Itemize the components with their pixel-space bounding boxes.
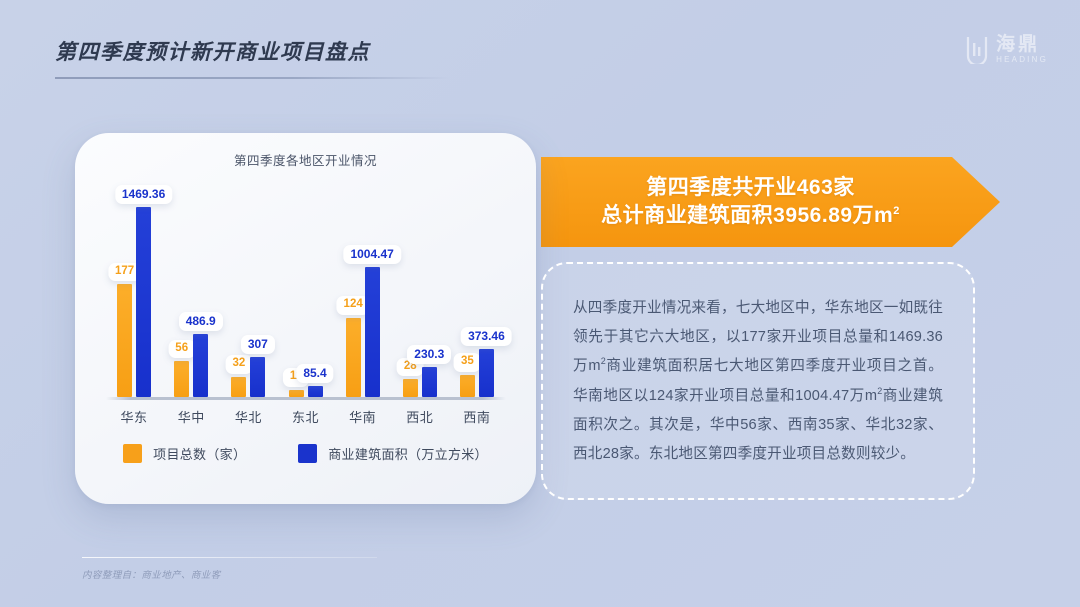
- analysis-note-text: 从四季度开业情况来看，七大地区中，华东地区一如既往领先于其它六大地区，以177家…: [573, 294, 943, 469]
- bar-value-label: 373.46: [461, 327, 512, 346]
- bar-area[interactable]: 230.3: [422, 367, 437, 397]
- category-label-7: 西南: [456, 407, 498, 426]
- legend-label-area: 商业建筑面积（万立方米）: [328, 444, 488, 463]
- bar-group: 35373.46: [456, 349, 498, 397]
- footer-source-text: 内容整理自：商业地产、商业客: [82, 567, 382, 581]
- analysis-note-panel: 从四季度开业情况来看，七大地区中，华东地区一如既往领先于其它六大地区，以177家…: [541, 262, 975, 500]
- bar-projects[interactable]: 28: [403, 379, 418, 397]
- bar-value-label: 230.3: [407, 345, 451, 364]
- banner-superscript: 2: [893, 205, 900, 217]
- footer-divider: [82, 557, 377, 558]
- banner-line-2-text: 总计商业建筑面积3956.89万m: [601, 204, 893, 227]
- bar-projects[interactable]: 177: [117, 284, 132, 397]
- category-label-5: 华南: [342, 407, 384, 426]
- chart-legend: 项目总数（家） 商业建筑面积（万立方米）: [75, 444, 536, 463]
- banner-line-1: 第四季度共开业463家: [646, 174, 855, 202]
- bar-area[interactable]: 307: [250, 357, 265, 397]
- brand-logo: 海鼎 HEADING: [965, 34, 1048, 64]
- legend-item-area[interactable]: 商业建筑面积（万立方米）: [298, 444, 488, 463]
- bar-group: 28230.3: [399, 367, 441, 397]
- bar-area[interactable]: 486.9: [193, 334, 208, 397]
- chart-card: 第四季度各地区开业情况 1771469.3656486.9323071185.4…: [75, 133, 536, 504]
- bar-value-label: 85.4: [296, 364, 333, 383]
- bar-group: 32307: [227, 357, 269, 397]
- logo-name-en: HEADING: [996, 56, 1048, 64]
- legend-item-projects[interactable]: 项目总数（家）: [123, 444, 246, 463]
- bar-value-label: 1004.47: [343, 245, 400, 264]
- bar-value-label: 32: [225, 355, 252, 374]
- logo-name-cn: 海鼎: [996, 35, 1048, 54]
- bar-projects[interactable]: 32: [231, 377, 246, 397]
- chart-plot-area: 1771469.3656486.9323071185.41241004.4728…: [106, 175, 506, 400]
- category-label-6: 西北: [399, 407, 441, 426]
- summary-banner: 第四季度共开业463家 总计商业建筑面积3956.89万m2: [541, 157, 1000, 247]
- bar-value-label: 35: [454, 353, 481, 372]
- bar-value-label: 486.9: [179, 312, 223, 331]
- chart-category-axis: 华东华中华北东北华南西北西南: [106, 400, 506, 426]
- bar-value-label: 1469.36: [115, 185, 172, 204]
- chart-title: 第四季度各地区开业情况: [75, 150, 536, 169]
- bar-area[interactable]: 1004.47: [365, 267, 380, 397]
- bar-value-label: 307: [241, 335, 275, 354]
- bar-projects[interactable]: 11: [289, 390, 304, 397]
- bar-group: 1241004.47: [342, 267, 384, 397]
- page-footer: 内容整理自：商业地产、商业客: [82, 557, 382, 581]
- bar-chart-logo-icon: [965, 34, 989, 64]
- bar-projects[interactable]: 56: [174, 361, 189, 397]
- bar-group: 1771469.36: [113, 207, 155, 397]
- category-label-4: 东北: [285, 407, 327, 426]
- bar-group: 1185.4: [285, 386, 327, 397]
- legend-label-projects: 项目总数（家）: [153, 444, 246, 463]
- page-header: 第四季度预计新开商业项目盘点: [55, 36, 455, 79]
- category-label-2: 华中: [170, 407, 212, 426]
- logo-wordmark: 海鼎 HEADING: [996, 35, 1048, 64]
- legend-swatch-blue-icon: [298, 444, 317, 463]
- category-label-1: 华东: [113, 407, 155, 426]
- bar-area[interactable]: 1469.36: [136, 207, 151, 397]
- bar-area[interactable]: 85.4: [308, 386, 323, 397]
- category-label-3: 华北: [227, 407, 269, 426]
- header-divider: [55, 77, 450, 79]
- page-title: 第四季度预计新开商业项目盘点: [55, 36, 455, 66]
- legend-swatch-orange-icon: [123, 444, 142, 463]
- banner-line-2: 总计商业建筑面积3956.89万m2: [601, 202, 900, 230]
- bar-projects[interactable]: 124: [346, 318, 361, 397]
- bar-projects[interactable]: 35: [460, 375, 475, 397]
- bar-area[interactable]: 373.46: [479, 349, 494, 397]
- bar-value-label: 56: [168, 340, 195, 359]
- bar-group: 56486.9: [170, 334, 212, 397]
